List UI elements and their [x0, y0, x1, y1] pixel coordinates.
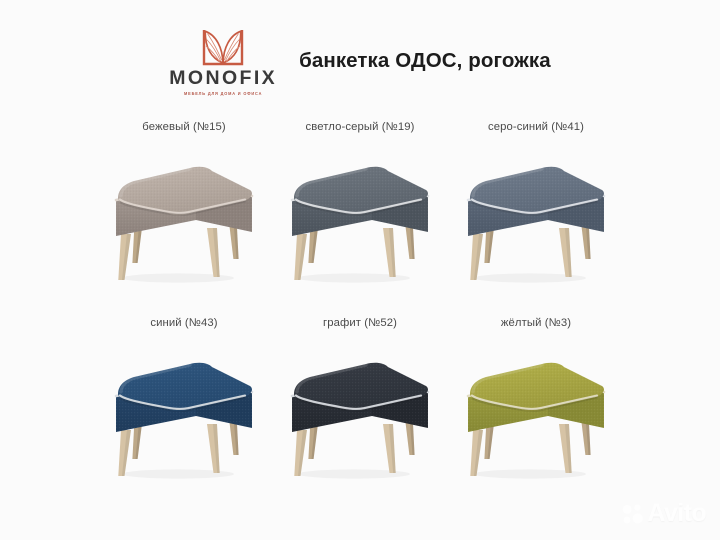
- product-cell[interactable]: бежевый (№15): [96, 118, 272, 314]
- product-color-grid: бежевый (№15) светло-серый (№19) серо-си…: [96, 118, 624, 510]
- product-cell[interactable]: графит (№52): [272, 314, 448, 510]
- avito-wordmark: Avito: [647, 501, 706, 526]
- product-cell[interactable]: серо-синий (№41): [448, 118, 624, 314]
- product-cell[interactable]: светло-серый (№19): [272, 118, 448, 314]
- color-label: бежевый (№15): [142, 118, 225, 136]
- color-label: синий (№43): [150, 314, 217, 332]
- color-label: светло-серый (№19): [306, 118, 415, 136]
- color-label: графит (№52): [323, 314, 397, 332]
- brand-tagline: МЕБЕЛЬ ДЛЯ ДОМА И ОФИСА: [184, 91, 262, 96]
- brand-name: MONOFIX: [169, 69, 277, 89]
- color-label: серо-синий (№41): [488, 118, 584, 136]
- bench-image: [280, 352, 440, 484]
- bench-image: [280, 156, 440, 288]
- avito-dots-icon: [622, 503, 644, 525]
- color-label: жёлтый (№3): [501, 314, 571, 332]
- page-title: банкетка ОДОС, рогожка: [299, 49, 551, 73]
- product-cell[interactable]: жёлтый (№3): [448, 314, 624, 510]
- bench-image: [104, 156, 264, 288]
- bench-image: [456, 156, 616, 288]
- bench-image: [104, 352, 264, 484]
- bench-image: [456, 352, 616, 484]
- page-header: MONOFIX МЕБЕЛЬ ДЛЯ ДОМА И ОФИСА банкетка…: [0, 22, 720, 100]
- avito-watermark: Avito: [622, 501, 706, 526]
- product-cell[interactable]: синий (№43): [96, 314, 272, 510]
- brand-logo: MONOFIX МЕБЕЛЬ ДЛЯ ДОМА И ОФИСА: [169, 26, 277, 97]
- leaf-monogram-icon: [202, 28, 244, 66]
